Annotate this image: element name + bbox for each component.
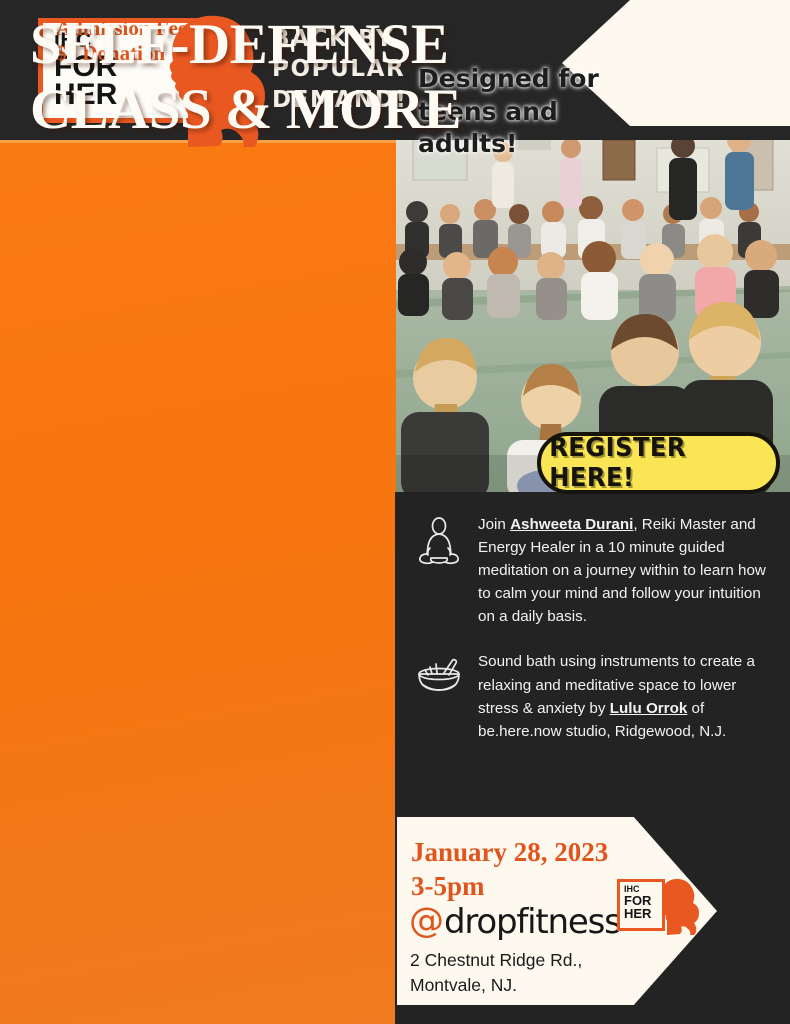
register-button-label: REGISTER HERE! [549, 433, 768, 493]
address-line-1: 2 Chestnut Ridge Rd., [410, 948, 582, 973]
event-flyer: IHC FOR HER BACK BY POPULAR DEMAND! A [0, 0, 790, 1024]
speaker-name: Lulu Orrok [610, 700, 688, 717]
list-item: Join Ashweeta Durani, Reiki Master and E… [414, 513, 780, 628]
ihc-for-her-mini-logo: IHC FOR HER [617, 879, 691, 931]
list-item: Sound bath using instruments to create a… [414, 650, 780, 742]
title-line-1: SELF-DEFENSE [30, 13, 500, 78]
mini-logo-box: IHC FOR HER [617, 879, 665, 931]
event-date-time: January 28, 2023 3-5pm [411, 835, 608, 903]
meditation-lotus-pose-icon [414, 513, 464, 565]
mini-logo-line-her: HER [624, 907, 651, 920]
mini-logo-wordmark: IHC FOR HER [624, 885, 651, 920]
event-time: 3-5pm [411, 869, 608, 903]
event-address: 2 Chestnut Ridge Rd., Montvale, NJ. [410, 948, 582, 998]
list-item-text: Join Ashweeta Durani, Reiki Master and E… [478, 513, 780, 628]
singing-bowl-icon [414, 650, 464, 702]
title-line-2: CLASS & MORE [30, 78, 500, 143]
page-title: SELF-DEFENSE CLASS & MORE [30, 13, 500, 143]
address-line-2: Montvale, NJ. [410, 973, 582, 998]
register-here-button[interactable]: REGISTER HERE! [537, 432, 780, 494]
item-text-pre: Join [478, 516, 510, 533]
venue-brand: @ dropfitness [409, 904, 621, 939]
venue-name: dropfitness [444, 905, 621, 939]
right-session-list: Join Ashweeta Durani, Reiki Master and E… [414, 513, 780, 765]
list-item-text: Sound bath using instruments to create a… [478, 650, 780, 742]
orange-content-column [0, 140, 396, 1024]
event-date: January 28, 2023 [411, 835, 608, 869]
event-info-banner: January 28, 2023 3-5pm @ dropfitness 2 C… [397, 817, 717, 1005]
at-sign-icon: @ [409, 904, 444, 939]
speaker-name: Ashweeta Durani [510, 516, 633, 533]
